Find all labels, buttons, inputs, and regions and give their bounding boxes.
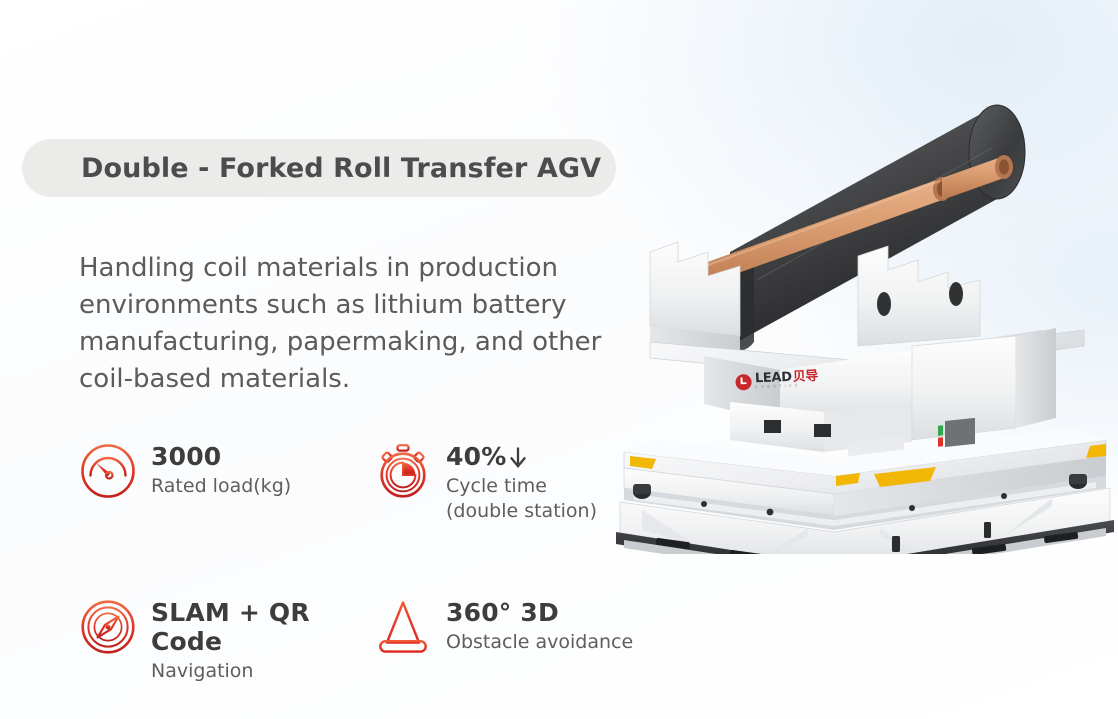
spec-text: 360° 3D Obstacle avoidance (446, 596, 633, 655)
spec-item-cycle-time: 40% Cycle time (double station) (374, 440, 649, 524)
spec-grid: 3000 Rated load(kg) (79, 440, 649, 684)
spec-label-line1: Rated load(kg) (151, 475, 291, 497)
spec-value: 3000 (151, 442, 291, 471)
product-description: Handling coil materials in production en… (79, 250, 645, 398)
spec-label: Cycle time (double station) (446, 474, 597, 524)
spec-text: 40% Cycle time (double station) (446, 440, 597, 524)
spec-row: 3000 Rated load(kg) (79, 440, 649, 524)
spec-value-text: 360° 3D (446, 598, 559, 627)
spec-text: 3000 Rated load(kg) (151, 440, 291, 499)
content-column: Double - Forked Roll Transfer AGV Handli… (0, 0, 660, 719)
spec-row: SLAM + QR Code Navigation (79, 596, 649, 684)
spec-label: Obstacle avoidance (446, 630, 633, 655)
gauge-icon (79, 442, 137, 500)
spec-value-text: SLAM + QR Code (151, 598, 374, 656)
spec-value: SLAM + QR Code (151, 598, 374, 656)
page-title: Double - Forked Roll Transfer AGV (81, 153, 601, 184)
product-image-agv (612, 84, 1118, 554)
spec-label-line1: Navigation (151, 660, 253, 682)
arrow-down-icon (508, 445, 528, 469)
page-title-pill: Double - Forked Roll Transfer AGV (22, 139, 616, 197)
spec-label: Rated load(kg) (151, 474, 291, 499)
spec-value-text: 3000 (151, 442, 221, 471)
spec-item-rated-load: 3000 Rated load(kg) (79, 440, 374, 524)
spec-value: 40% (446, 442, 597, 471)
compass-icon (79, 598, 137, 656)
spec-text: SLAM + QR Code Navigation (151, 596, 374, 684)
spec-label-line1: Cycle time (446, 474, 597, 499)
spec-value-text: 40% (446, 442, 506, 471)
slide-canvas: Double - Forked Roll Transfer AGV Handli… (0, 0, 1118, 719)
spec-item-navigation: SLAM + QR Code Navigation (79, 596, 374, 684)
spec-label-line2: (double station) (446, 499, 597, 524)
spec-label-line1: Obstacle avoidance (446, 631, 633, 653)
spec-label: Navigation (151, 659, 374, 684)
stopwatch-icon (374, 442, 432, 500)
spec-item-obstacle-avoidance: 360° 3D Obstacle avoidance (374, 596, 649, 684)
fork-lift-platform (650, 242, 1084, 460)
spec-value: 360° 3D (446, 598, 633, 627)
traffic-cone-icon (374, 598, 432, 656)
